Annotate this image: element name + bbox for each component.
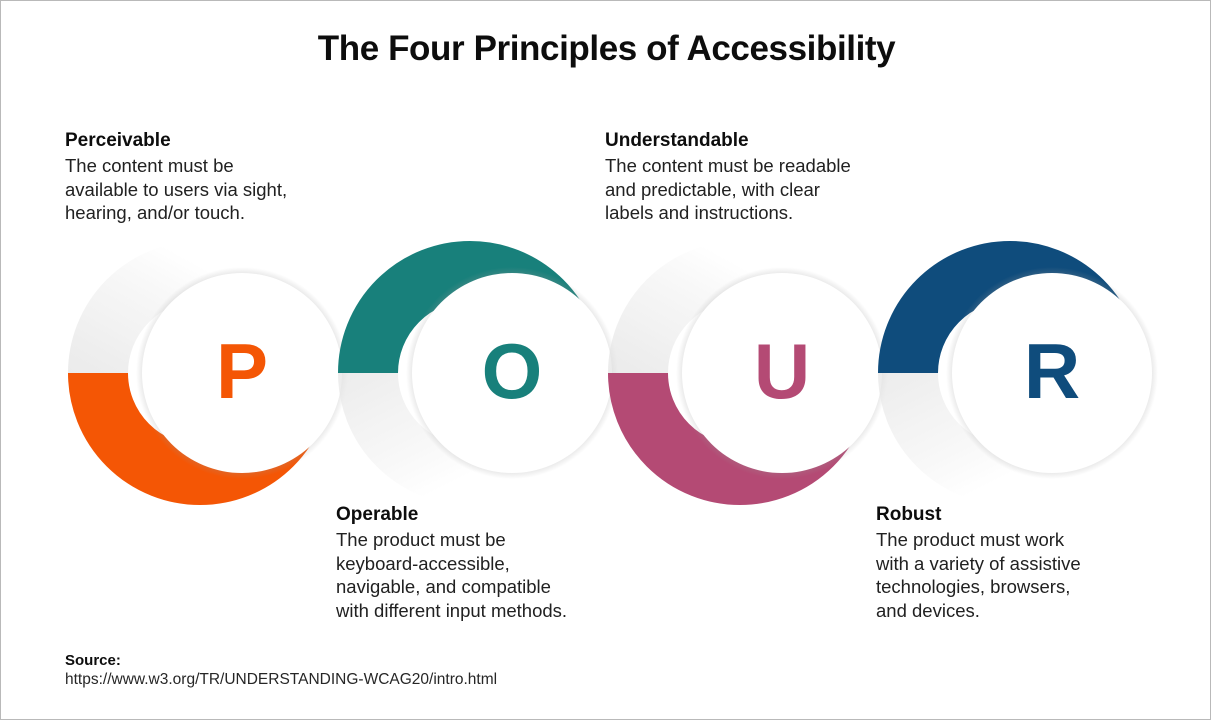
page-title: The Four Principles of Accessibility <box>1 27 1211 71</box>
principle-title-understandable: Understandable <box>605 128 925 153</box>
principle-block-operable: Operable The product must be keyboard-ac… <box>336 502 641 622</box>
principle-description-operable: The product must be keyboard-accessible,… <box>336 528 641 622</box>
letter-o: O <box>467 332 557 410</box>
principle-description-understandable: The content must be readable and predict… <box>605 154 925 225</box>
principle-block-robust: Robust The product must work with a vari… <box>876 502 1176 622</box>
principle-block-perceivable: Perceivable The content must be availabl… <box>65 128 365 225</box>
principle-description-robust: The product must work with a variety of … <box>876 528 1176 622</box>
principle-block-understandable: Understandable The content must be reada… <box>605 128 925 225</box>
source-label: Source: <box>65 651 497 670</box>
letter-r: R <box>1007 332 1097 410</box>
principle-description-perceivable: The content must be available to users v… <box>65 154 365 225</box>
source-block: Source: https://www.w3.org/TR/UNDERSTAND… <box>65 651 497 690</box>
accessibility-poster: The Four Principles of Accessibility <box>0 0 1211 720</box>
source-url[interactable]: https://www.w3.org/TR/UNDERSTANDING-WCAG… <box>65 670 497 690</box>
letter-u: U <box>737 332 827 410</box>
principle-title-operable: Operable <box>336 502 641 527</box>
letter-p: P <box>197 332 287 410</box>
principle-title-robust: Robust <box>876 502 1176 527</box>
principle-title-perceivable: Perceivable <box>65 128 365 153</box>
